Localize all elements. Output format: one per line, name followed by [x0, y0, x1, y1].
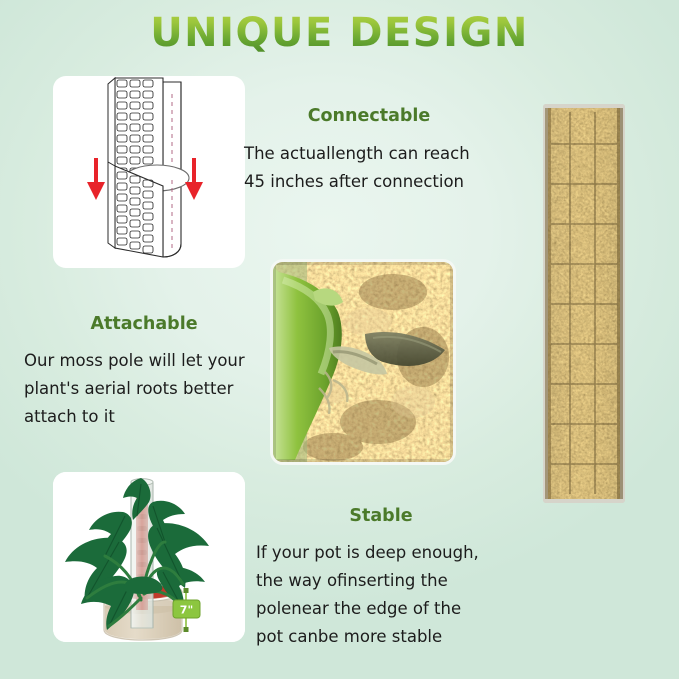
feature-connectable: Connectable The actuallength can reach 4…	[244, 104, 494, 196]
down-arrow-left-icon	[87, 158, 105, 200]
feature-stable: Stable If your pot is deep enough, the w…	[256, 504, 506, 651]
feature-stable-body: If your pot is deep enough, the way ofin…	[256, 539, 506, 651]
aerial-roots-photo	[270, 259, 456, 465]
product-infographic-poster: UNIQUE DESIGN	[0, 0, 679, 679]
measurement-badge-label: 7"	[180, 604, 193, 617]
monstera-in-pot-with-moss-pole: 7"	[53, 472, 245, 642]
page-title: UNIQUE DESIGN	[0, 8, 679, 58]
plant-pot-illustration-card: 7"	[53, 472, 245, 642]
aerial-roots-photo-render	[273, 262, 453, 462]
feature-attachable: Attachable Our moss pole will let your p…	[24, 312, 264, 431]
feature-attachable-body: Our moss pole will let your plant's aeri…	[24, 347, 264, 431]
feature-connectable-heading: Connectable	[244, 104, 494, 128]
connector-diagram-card	[53, 76, 245, 268]
feature-stable-heading: Stable	[256, 504, 506, 528]
moss-pole-photo-render	[543, 104, 625, 503]
moss-pole-product-photo	[543, 104, 625, 503]
moss-pole-connection-diagram	[53, 76, 245, 268]
feature-connectable-body: The actuallength can reach 45 inches aft…	[244, 140, 494, 196]
feature-attachable-heading: Attachable	[24, 312, 264, 336]
